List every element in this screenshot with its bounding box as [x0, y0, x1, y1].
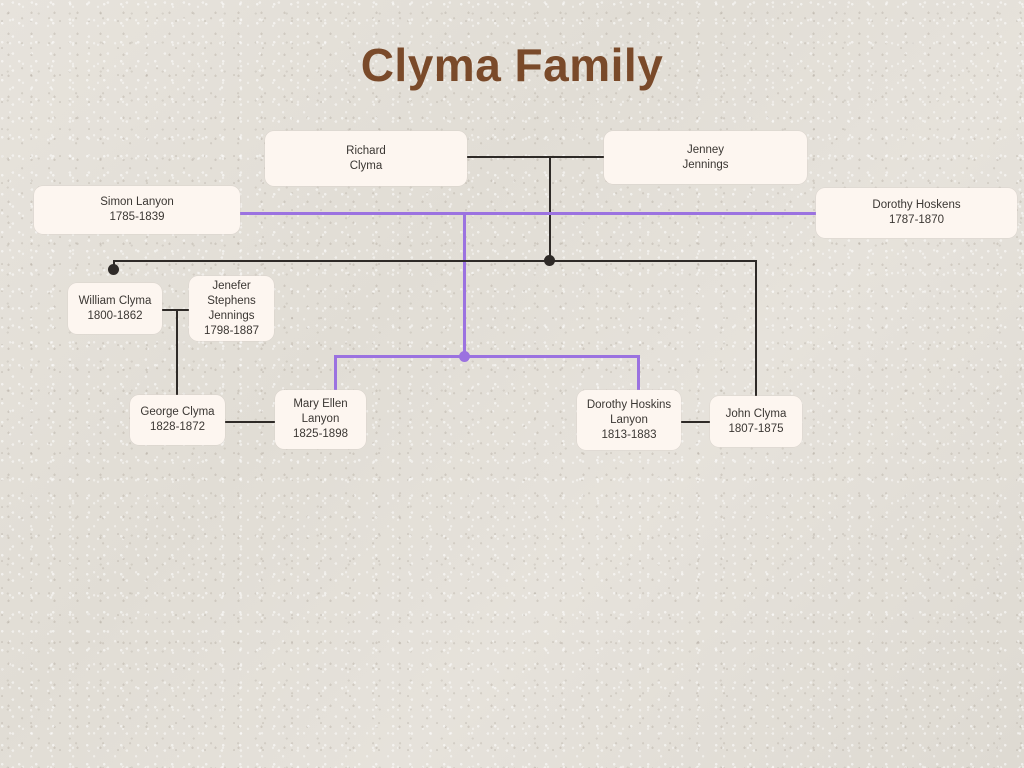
person-node-text: George Clyma1828-1872: [140, 405, 214, 435]
person-node-text: William Clyma1800-1862: [79, 294, 152, 324]
person-dates: 1828-1872: [140, 420, 214, 435]
person-node-william-clyma[interactable]: William Clyma1800-1862: [68, 283, 162, 334]
person-name-line: Clyma: [346, 159, 386, 174]
person-name-line: Dorothy Hoskins: [587, 398, 671, 413]
connector-simon-to-dorothy: [240, 212, 816, 215]
person-node-text: JeneferStephensJennings1798-1887: [204, 279, 259, 339]
person-name-line: Jenefer: [204, 279, 259, 294]
person-name-line: Jenney: [682, 143, 728, 158]
person-node-dorothy-hoskens[interactable]: Dorothy Hoskens1787-1870: [816, 188, 1017, 238]
person-dates: 1787-1870: [872, 213, 960, 228]
connector-richard-jenney-drop: [549, 156, 551, 262]
family-tree-canvas: Clyma Family RichardClymaJenneyJenningsS…: [0, 0, 1024, 768]
person-node-text: Dorothy HoskinsLanyon1813-1883: [587, 398, 671, 443]
junction-dot-richard-jenney-junction: [544, 255, 555, 266]
person-node-text: Simon Lanyon1785-1839: [100, 195, 174, 225]
person-name-line: Stephens: [204, 294, 259, 309]
person-node-mary-ellen-lanyon[interactable]: Mary EllenLanyon1825-1898: [275, 390, 366, 449]
person-name-line: Lanyon: [587, 413, 671, 428]
junction-dot-simon-dorothy-junction: [459, 351, 470, 362]
person-node-text: JenneyJennings: [682, 143, 728, 173]
person-name-line: Jennings: [682, 158, 728, 173]
person-name-line: William Clyma: [79, 294, 152, 309]
person-name-line: Mary Ellen: [293, 397, 348, 412]
connector-dorothy-to-john: [680, 421, 712, 423]
connector-john-clyma-stem: [755, 260, 757, 398]
connector-clyma-children-bar: [113, 260, 757, 262]
person-name-line: Dorothy Hoskens: [872, 198, 960, 213]
person-node-jenefer-stephens-jennings[interactable]: JeneferStephensJennings1798-1887: [189, 276, 274, 341]
connector-richard-to-jenney: [467, 156, 605, 158]
person-node-richard-clyma[interactable]: RichardClyma: [265, 131, 467, 186]
connector-simon-dorothy-drop: [463, 212, 466, 358]
person-node-john-clyma[interactable]: John Clyma1807-1875: [710, 396, 802, 447]
person-node-text: John Clyma1807-1875: [726, 407, 787, 437]
junction-dot-william-clyma-junction: [108, 264, 119, 275]
connector-lanyon-children-bar: [334, 355, 640, 358]
person-node-text: RichardClyma: [346, 144, 386, 174]
connector-george-to-mary-ellen: [224, 421, 277, 423]
connector-mary-ellen-stem: [334, 355, 337, 392]
person-dates: 1800-1862: [79, 309, 152, 324]
person-node-jenney-jennings[interactable]: JenneyJennings: [604, 131, 807, 184]
person-dates: 1785-1839: [100, 210, 174, 225]
connector-george-clyma-stem: [176, 309, 178, 397]
person-node-dorothy-hoskins-lanyon[interactable]: Dorothy HoskinsLanyon1813-1883: [577, 390, 681, 450]
person-node-text: Dorothy Hoskens1787-1870: [872, 198, 960, 228]
person-name-line: Simon Lanyon: [100, 195, 174, 210]
person-name-line: Richard: [346, 144, 386, 159]
connector-dorothy-lanyon-stem: [637, 355, 640, 392]
person-dates: 1798-1887: [204, 324, 259, 339]
person-node-simon-lanyon[interactable]: Simon Lanyon1785-1839: [34, 186, 240, 234]
person-dates: 1813-1883: [587, 428, 671, 443]
person-name-line: Jennings: [204, 309, 259, 324]
page-title: Clyma Family: [0, 38, 1024, 92]
person-name-line: Lanyon: [293, 412, 348, 427]
person-name-line: George Clyma: [140, 405, 214, 420]
person-dates: 1807-1875: [726, 422, 787, 437]
person-node-text: Mary EllenLanyon1825-1898: [293, 397, 348, 442]
person-node-george-clyma[interactable]: George Clyma1828-1872: [130, 395, 225, 445]
person-name-line: John Clyma: [726, 407, 787, 422]
person-dates: 1825-1898: [293, 427, 348, 442]
